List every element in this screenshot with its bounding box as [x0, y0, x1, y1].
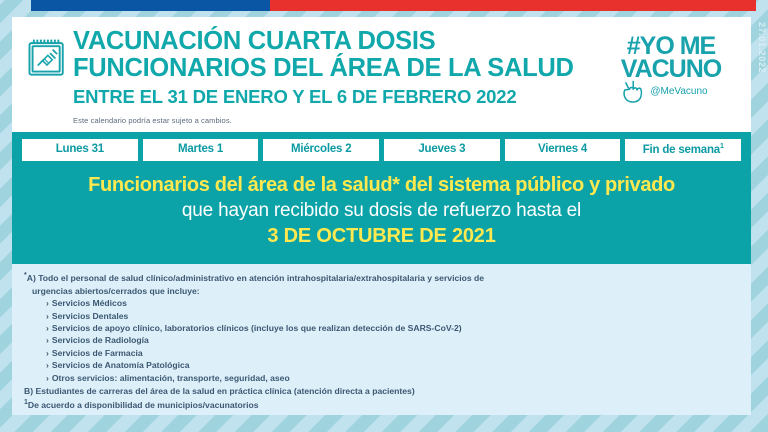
day-column-fin-de-semana[interactable]: Fin de semana1: [625, 139, 741, 161]
day-column-martes[interactable]: Martes 1: [143, 139, 259, 161]
note-a-line2: urgencias abiertos/cerrados que incluye:: [24, 285, 739, 297]
list-item: Servicios Dentales: [46, 310, 739, 322]
day-label: Fin de semana: [643, 144, 720, 156]
poster-card: VACUNACIÓN CUARTA DOSIS FUNCIONARIOS DEL…: [12, 17, 751, 415]
note-b-line: B) Estudiantes de carreras del área de l…: [24, 385, 739, 397]
day-column-miercoles[interactable]: Miércoles 2: [263, 139, 379, 161]
poster-disclaimer: Este calendario podría estar sujeto a ca…: [73, 116, 751, 125]
list-item: Servicios de Anatomía Patológica: [46, 359, 739, 371]
calendar-teal-block: Lunes 31 Martes 1 Miércoles 2 Jueves 3 V…: [12, 132, 751, 265]
eligibility-message: Funcionarios del área de la salud* del s…: [22, 161, 741, 253]
list-item: Servicios de Farmacia: [46, 347, 739, 359]
note-a-line1: *A) Todo el personal de salud clínico/ad…: [24, 271, 739, 284]
day-column-jueves[interactable]: Jueves 3: [384, 139, 500, 161]
eligibility-line1: Funcionarios del área de la salud* del s…: [28, 174, 735, 196]
yomevacuno-logo: #YO ME VACUNO @MeVacuno: [615, 35, 727, 97]
footnotes-block: *A) Todo el personal de salud clínico/ad…: [12, 264, 751, 415]
note-c-text: De acuerdo a disponibilidad de municipio…: [28, 400, 259, 410]
calendar-syringe-icon: [26, 36, 68, 85]
flag-blue-segment: [31, 0, 270, 11]
list-item: Otros servicios: alimentación, transport…: [46, 372, 739, 384]
day-label: Martes 1: [178, 143, 223, 155]
services-list: Servicios Médicos Servicios Dentales Ser…: [24, 297, 739, 384]
day-column-lunes[interactable]: Lunes 31: [22, 139, 138, 161]
list-item: Servicios de apoyo clínico, laboratorios…: [46, 322, 739, 334]
chile-flag-bar: [31, 0, 756, 11]
eligibility-line2: que hayan recibido su dosis de refuerzo …: [28, 199, 735, 223]
poster-header: VACUNACIÓN CUARTA DOSIS FUNCIONARIOS DEL…: [12, 17, 751, 132]
peace-hand-icon: [621, 73, 647, 109]
list-item: Servicios Médicos: [46, 297, 739, 309]
day-label: Miércoles 2: [291, 143, 351, 155]
flag-red-segment: [270, 0, 756, 11]
note-a-text1: A) Todo el personal de salud clínico/adm…: [27, 273, 484, 283]
day-footnote-marker: 1: [720, 143, 724, 150]
days-header-row: Lunes 31 Martes 1 Miércoles 2 Jueves 3 V…: [22, 139, 741, 161]
day-column-viernes[interactable]: Viernes 4: [505, 139, 621, 161]
vertical-date-label: 27.01.2022: [757, 22, 767, 73]
day-label: Lunes 31: [56, 143, 104, 155]
list-item: Servicios de Radiología: [46, 334, 739, 346]
day-label: Viernes 4: [538, 143, 587, 155]
note-c-line: 1De acuerdo a disponibilidad de municipi…: [24, 398, 739, 411]
eligibility-date: 3 DE OCTUBRE DE 2021: [28, 225, 735, 248]
day-label: Jueves 3: [418, 143, 465, 155]
